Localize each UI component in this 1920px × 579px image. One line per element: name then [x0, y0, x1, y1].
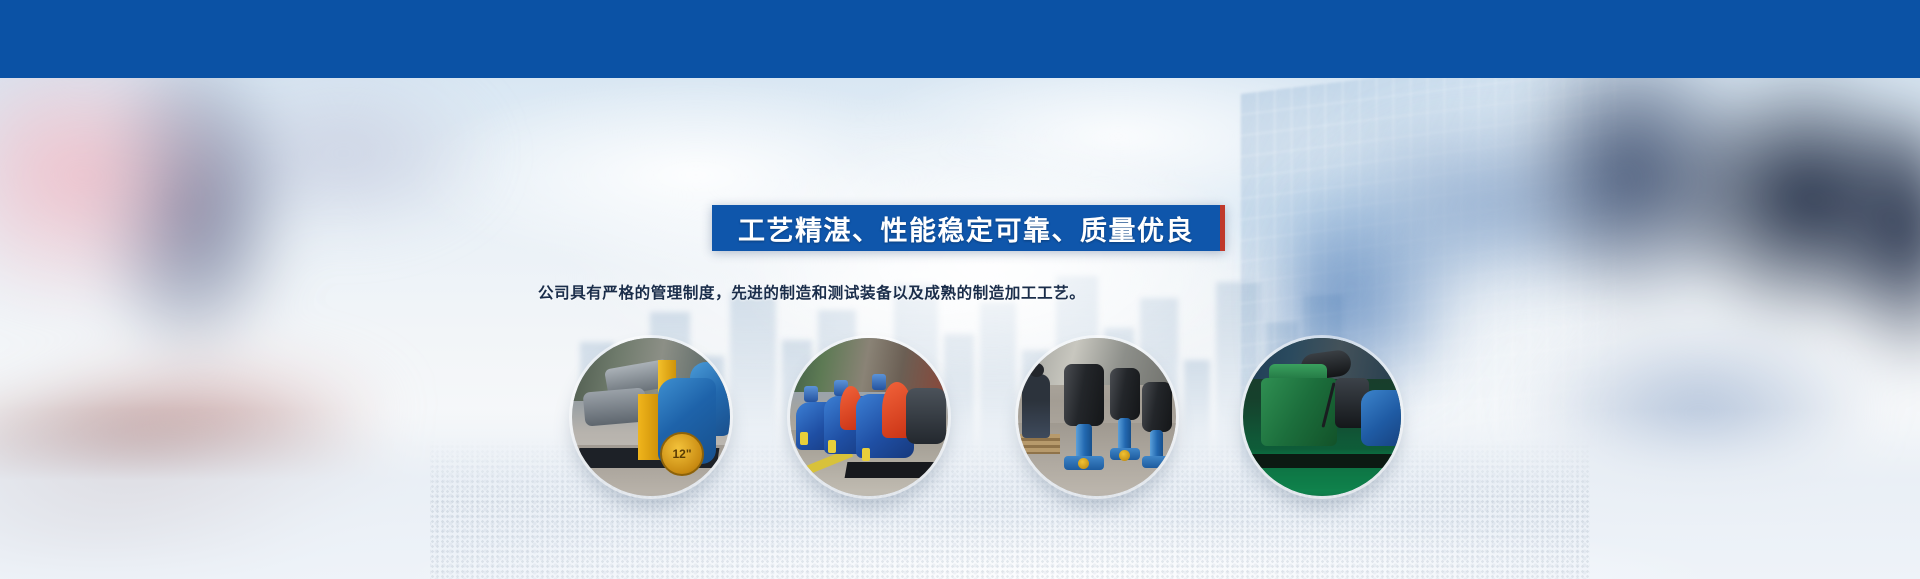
photo-vertical-inline-pumps[interactable] — [1018, 338, 1176, 496]
headline-accent-stripe — [1220, 205, 1225, 251]
electric-motor — [906, 388, 946, 444]
photo-scene — [1243, 338, 1401, 496]
pump-flange-3 — [1142, 456, 1172, 468]
inline-motor-1 — [1064, 364, 1104, 426]
inline-motor-2 — [1110, 368, 1140, 420]
photo-scene — [790, 338, 948, 496]
pump-nameplate-1 — [1078, 458, 1089, 469]
headline-banner: 工艺精湛、性能稳定可靠、质量优良 — [712, 205, 1225, 251]
pump-size-plate: 12" — [660, 432, 704, 476]
photo-split-case-pump[interactable]: 12" — [572, 338, 730, 496]
engine-skid — [1249, 454, 1399, 468]
pump-casing — [1361, 390, 1401, 446]
worker-figure — [1022, 374, 1050, 438]
site-header-bar[interactable] — [0, 0, 1920, 78]
photo-scene: 12" — [572, 338, 730, 496]
pump-column-2 — [1118, 418, 1131, 452]
inline-motor-3 — [1142, 382, 1172, 432]
pump-nameplate-2 — [1119, 450, 1130, 461]
yellow-tag-1 — [800, 432, 808, 445]
headline-box: 工艺精湛、性能稳定可靠、质量优良 — [712, 205, 1220, 251]
scene-wall — [790, 338, 948, 392]
headline-text: 工艺精湛、性能稳定可靠、质量优良 — [738, 209, 1194, 248]
pump-skid — [845, 462, 946, 478]
hero-banner: 工艺精湛、性能稳定可靠、质量优良 公司具有严格的管理制度，先进的制造和测试装备以… — [0, 0, 1920, 579]
photo-scene — [1018, 338, 1176, 496]
pump-column-1 — [1076, 424, 1092, 460]
yellow-tag-3 — [862, 448, 870, 461]
photo-slurry-pump-row[interactable] — [790, 338, 948, 496]
pump-inlet-3 — [872, 374, 886, 390]
photo-diesel-engine-pump-set[interactable] — [1243, 338, 1401, 496]
yellow-tag-2 — [828, 440, 836, 453]
subtitle-text: 公司具有严格的管理制度，先进的制造和测试装备以及成熟的制造加工工艺。 — [538, 281, 1538, 303]
pump-inlet-1 — [804, 386, 818, 402]
